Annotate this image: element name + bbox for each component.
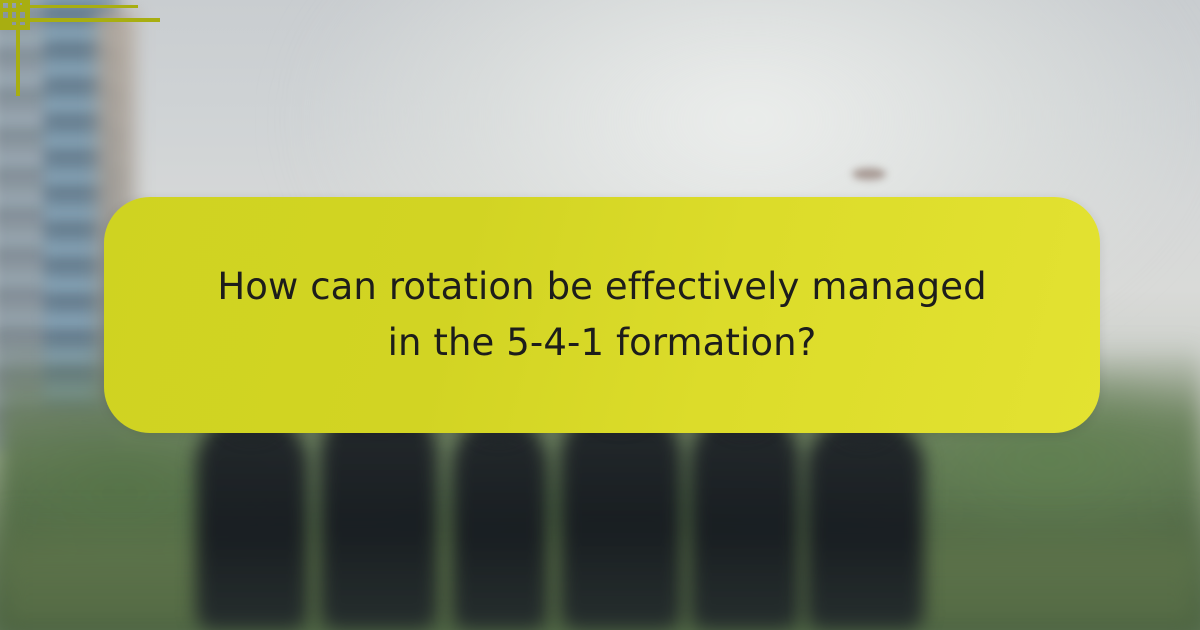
player-silhouette xyxy=(560,405,682,630)
corner-decoration-bottom-left xyxy=(0,0,30,30)
headline-text: How can rotation be effectively managed … xyxy=(202,259,1002,371)
deco-line-horizontal-inner xyxy=(18,5,138,8)
player-silhouette xyxy=(196,415,308,630)
deco-line-horizontal xyxy=(0,18,160,22)
deco-line-vertical xyxy=(8,0,12,30)
bird-silhouette xyxy=(852,168,886,180)
player-silhouette xyxy=(690,410,800,630)
headline-plate: How can rotation be effectively managed … xyxy=(104,197,1100,433)
player-silhouette xyxy=(806,418,924,630)
player-silhouette xyxy=(320,402,438,630)
player-silhouette xyxy=(452,418,548,630)
social-card: How can rotation be effectively managed … xyxy=(0,0,1200,630)
